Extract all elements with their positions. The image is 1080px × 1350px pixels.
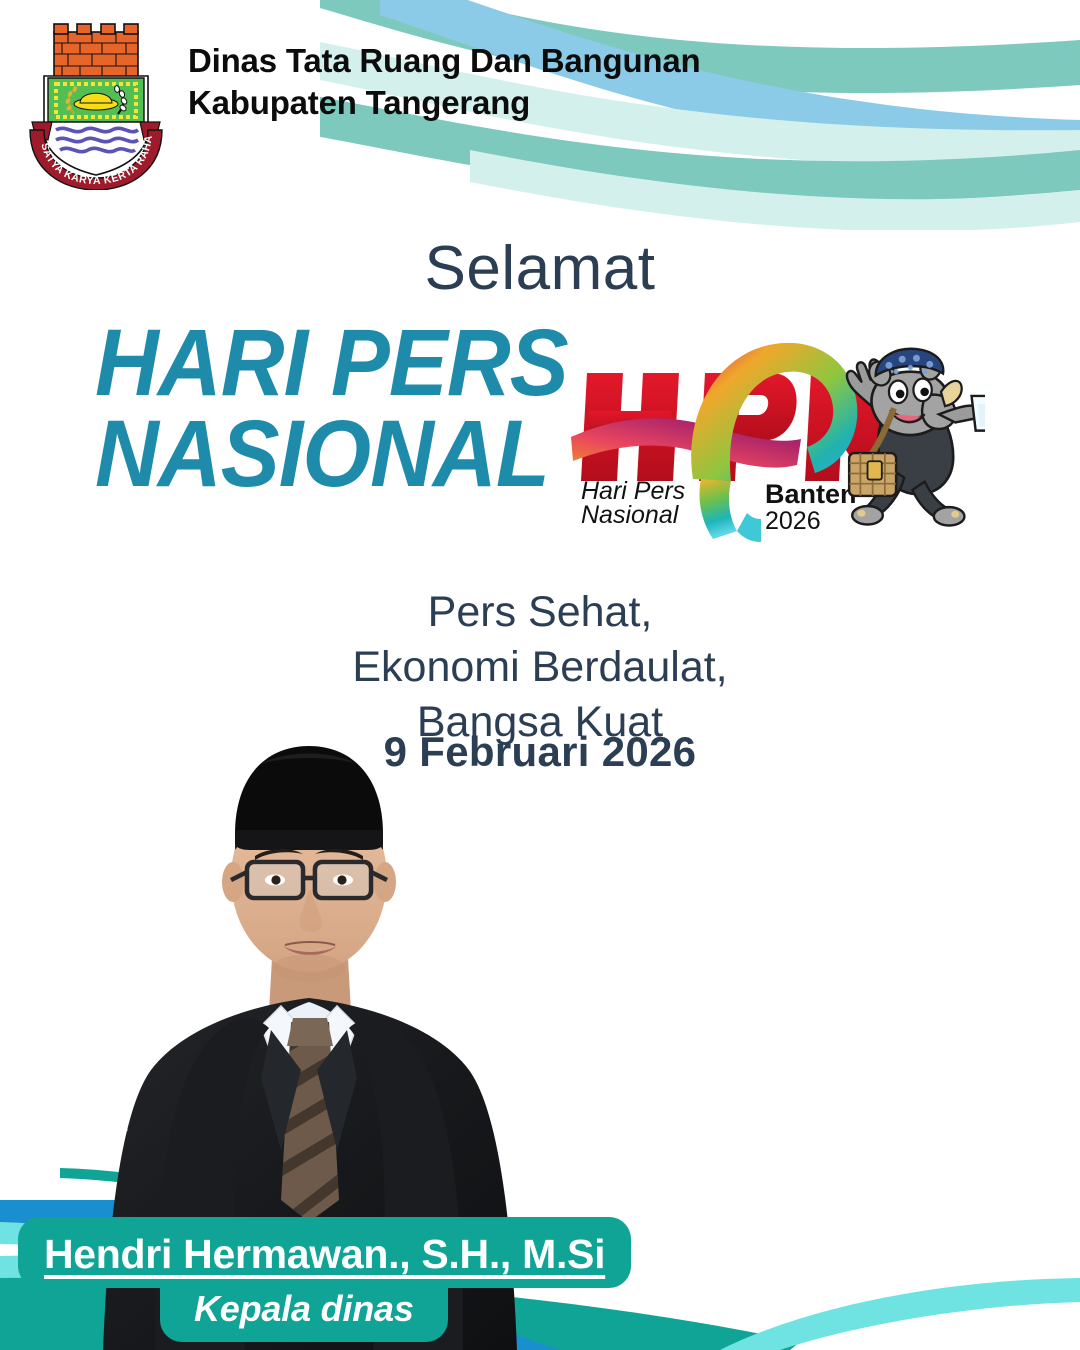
title-row: HARI PERS NASIONAL [0,318,1080,568]
hpn-host-label: Banten [765,479,857,509]
tagline: Pers Sehat, Ekonomi Berdaulat, Bangsa Ku… [0,585,1080,750]
tangerang-regency-coat-of-arms-icon: SATYA KARYA KERTA RAHARJA [22,18,170,190]
main-title-line1: HARI PERS [95,318,532,409]
event-date: 9 Februari 2026 [0,728,1080,776]
hpn-caption-line2: Nasional [581,501,680,529]
person-name: Hendri Hermawan., S.H., M.Si [44,1231,605,1278]
header: SATYA KARYA KERTA RAHARJA Dinas Tata Rua… [22,18,700,190]
person-role: Kepala dinas [194,1288,414,1330]
signature-banner: Hendri Hermawan., S.H., M.Si [18,1217,631,1288]
tagline-line1: Pers Sehat, [0,585,1080,640]
hpn-host-year: 2026 [765,507,821,535]
org-name-line2: Kabupaten Tangerang [188,82,700,124]
org-name: Dinas Tata Ruang Dan Bangunan Kabupaten … [188,18,700,124]
role-tab: Kepala dinas [160,1284,448,1342]
greeting-poster: SATYA KARYA KERTA RAHARJA Dinas Tata Rua… [0,0,1080,1350]
greeting-text: Selamat [0,233,1080,304]
main-title: HARI PERS NASIONAL [95,318,532,500]
tagline-line2: Ekonomi Berdaulat, [0,640,1080,695]
org-name-line1: Dinas Tata Ruang Dan Bangunan [188,40,700,82]
hpn-banten-2026-logo-icon: Hari Pers Nasional Banten 2026 [565,333,985,548]
main-title-line2: NASIONAL [95,409,532,500]
